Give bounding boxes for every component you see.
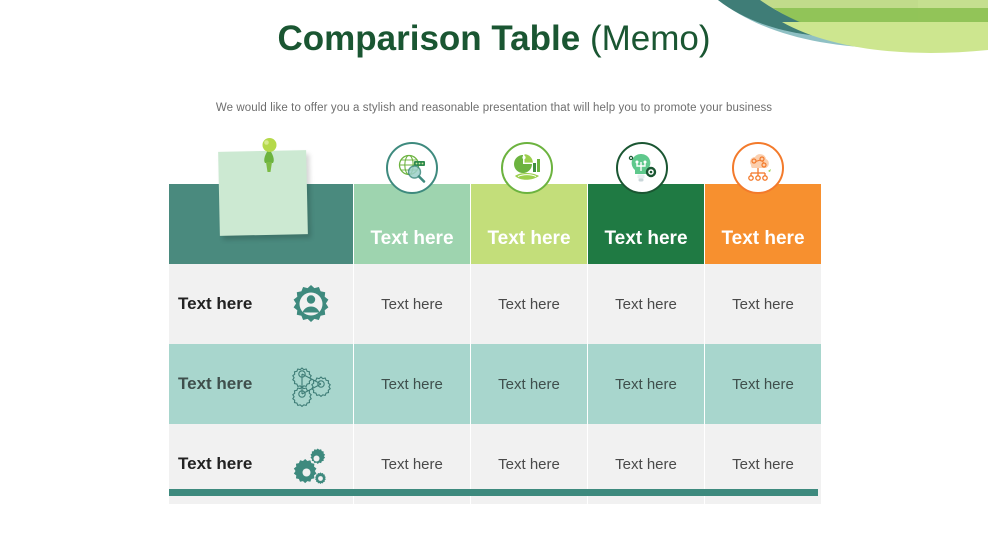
row-label-cell-2: Text here xyxy=(169,344,353,424)
row-label-2: Text here xyxy=(178,374,278,394)
cell-text: Text here xyxy=(498,296,560,313)
table-row: Text here Text here Text here Text here … xyxy=(169,264,818,344)
gears-cluster-icon xyxy=(288,441,334,487)
cell-r1c1: Text here xyxy=(354,264,470,344)
row-label-1: Text here xyxy=(178,294,278,314)
cell-r2c2: Text here xyxy=(471,344,587,424)
row-label-3: Text here xyxy=(178,454,278,474)
lightbulb-gear-icon xyxy=(616,142,668,194)
header-label-4: Text here xyxy=(721,228,804,250)
cell-r1c3: Text here xyxy=(588,264,704,344)
cell-r1c2: Text here xyxy=(471,264,587,344)
title-light: (Memo) xyxy=(590,19,711,58)
cell-r1c4: Text here xyxy=(705,264,821,344)
cell-r2c1: Text here xyxy=(354,344,470,424)
cell-text: Text here xyxy=(732,376,794,393)
cell-r2c3: Text here xyxy=(588,344,704,424)
header-label-3: Text here xyxy=(604,228,687,250)
gears-network-icon xyxy=(288,361,334,407)
page-title: Comparison Table (Memo) xyxy=(0,18,988,60)
header-label-2: Text here xyxy=(487,228,570,250)
cell-text: Text here xyxy=(498,456,560,473)
cloud-network-icon xyxy=(732,142,784,194)
cell-text: Text here xyxy=(615,456,677,473)
title-strong: Comparison Table xyxy=(277,19,580,58)
cell-text: Text here xyxy=(381,456,443,473)
header-cell-3[interactable]: Text here xyxy=(588,184,704,264)
pie-bar-chart-icon xyxy=(501,142,553,194)
gear-person-icon xyxy=(288,281,334,327)
header-cell-1[interactable]: Text here xyxy=(354,184,470,264)
table-bottom-bar xyxy=(169,489,818,496)
cell-text: Text here xyxy=(498,376,560,393)
header-cell-4[interactable]: Text here xyxy=(705,184,821,264)
cell-text: Text here xyxy=(615,296,677,313)
table-row: Text here Text here Text here T xyxy=(169,344,818,424)
cell-r2c4: Text here xyxy=(705,344,821,424)
page-subtitle: We would like to offer you a stylish and… xyxy=(0,102,988,114)
cell-text: Text here xyxy=(381,376,443,393)
cell-text: Text here xyxy=(732,456,794,473)
cell-text: Text here xyxy=(381,296,443,313)
header-label-1: Text here xyxy=(370,228,453,250)
cell-text: Text here xyxy=(615,376,677,393)
cell-text: Text here xyxy=(732,296,794,313)
header-cell-2[interactable]: Text here xyxy=(471,184,587,264)
row-label-cell-1: Text here xyxy=(169,264,353,344)
pushpin-icon xyxy=(252,136,286,180)
globe-search-icon xyxy=(386,142,438,194)
